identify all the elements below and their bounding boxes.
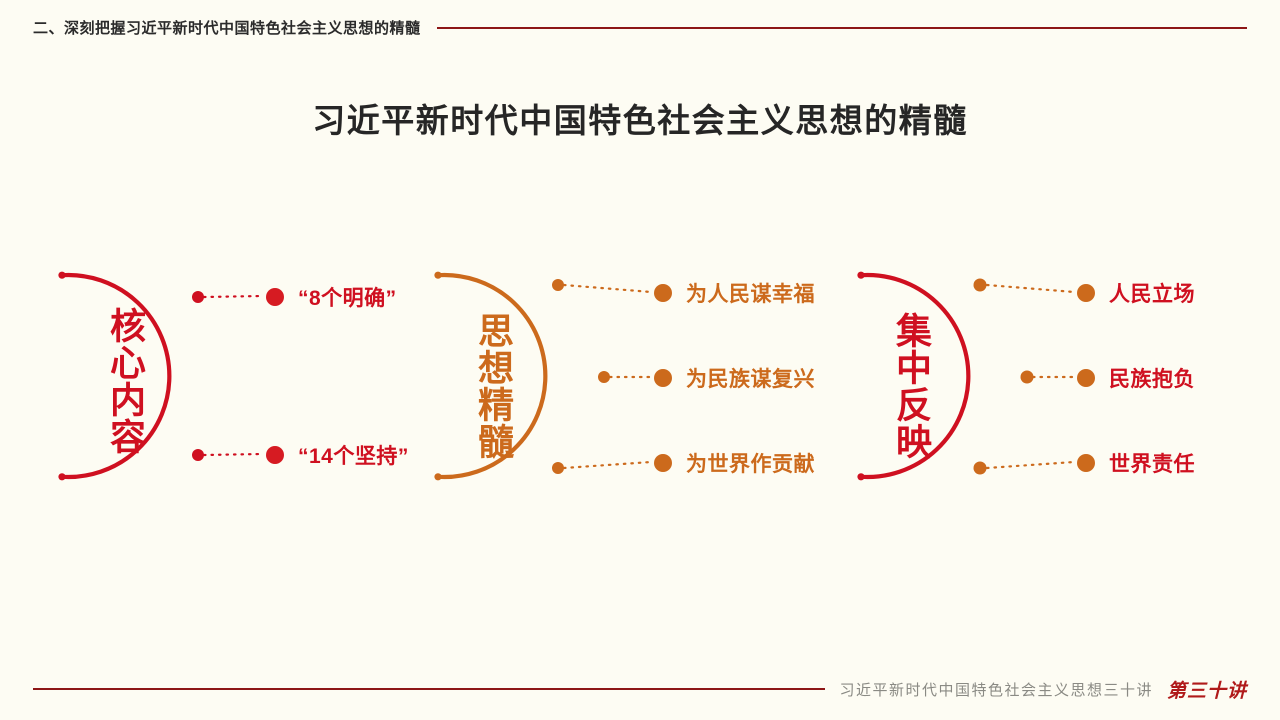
slide-canvas: 二、深刻把握习近平新时代中国特色社会主义思想的精髓 习近平新时代中国特色社会主义… bbox=[0, 0, 1280, 720]
leaf-label: 为世界作贡献 bbox=[686, 448, 815, 478]
leaf-label: “14个坚持” bbox=[298, 440, 409, 470]
connector-dotted-line bbox=[204, 296, 262, 297]
connector-dotted-line bbox=[204, 454, 262, 455]
leaf-item[interactable]: “8个明确” bbox=[266, 282, 397, 312]
branch-node-icon bbox=[598, 371, 610, 383]
branch-node-icon bbox=[192, 449, 204, 461]
group-label-ideological-essence: 思想精髓 bbox=[466, 286, 512, 486]
bullet-dot-icon bbox=[654, 454, 672, 472]
group-label-concentrated-reflection: 集中反映 bbox=[884, 286, 930, 486]
slide-footer: 习近平新时代中国特色社会主义思想三十讲 第三十讲 bbox=[33, 674, 1247, 704]
arc-endpoint-bottom-icon bbox=[434, 473, 441, 480]
footer-series-title: 习近平新时代中国特色社会主义思想三十讲 bbox=[839, 679, 1153, 700]
section-heading: 二、深刻把握习近平新时代中国特色社会主义思想的精髓 bbox=[33, 17, 421, 38]
footer-divider-line bbox=[33, 688, 825, 690]
arc-path bbox=[438, 275, 545, 477]
branch-node-icon bbox=[192, 291, 204, 303]
header-divider-line bbox=[437, 27, 1247, 29]
leaf-item[interactable]: 民族抱负 bbox=[1077, 363, 1195, 393]
arc-endpoint-top-icon bbox=[58, 272, 65, 279]
arc-endpoint-bottom-icon bbox=[857, 473, 864, 480]
slide-header: 二、深刻把握习近平新时代中国特色社会主义思想的精髓 bbox=[33, 14, 1247, 40]
leaf-item[interactable]: 为人民谋幸福 bbox=[654, 278, 815, 308]
arc-endpoint-top-icon bbox=[434, 272, 441, 279]
connector-dotted-line bbox=[564, 462, 651, 468]
bullet-dot-icon bbox=[1077, 454, 1095, 472]
branch-node-icon bbox=[552, 279, 564, 291]
leaf-label: 世界责任 bbox=[1109, 448, 1195, 478]
footer-lecture-number: 第三十讲 bbox=[1167, 676, 1247, 703]
branch-node-icon bbox=[974, 279, 987, 292]
leaf-label: “8个明确” bbox=[298, 282, 397, 312]
bullet-dot-icon bbox=[1077, 369, 1095, 387]
connector-dotted-line bbox=[987, 462, 1074, 468]
group-label-core-content: 核心内容 bbox=[98, 286, 144, 476]
leaf-label: 民族抱负 bbox=[1109, 363, 1195, 393]
leaf-label: 为民族谋复兴 bbox=[686, 363, 815, 393]
leaf-label: 为人民谋幸福 bbox=[686, 278, 815, 308]
leaf-item[interactable]: 为民族谋复兴 bbox=[654, 363, 815, 393]
bullet-dot-icon bbox=[266, 288, 284, 306]
bullet-dot-icon bbox=[1077, 284, 1095, 302]
bullet-dot-icon bbox=[266, 446, 284, 464]
leaf-label: 人民立场 bbox=[1109, 278, 1195, 308]
leaf-item[interactable]: “14个坚持” bbox=[266, 440, 409, 470]
arc-endpoint-top-icon bbox=[857, 272, 864, 279]
connector-dotted-line bbox=[564, 285, 651, 292]
branch-node-icon bbox=[1021, 371, 1034, 384]
leaf-item[interactable]: 世界责任 bbox=[1077, 448, 1195, 478]
bullet-dot-icon bbox=[654, 369, 672, 387]
arc-path bbox=[861, 275, 968, 477]
leaf-item[interactable]: 人民立场 bbox=[1077, 278, 1195, 308]
branch-node-icon bbox=[974, 462, 987, 475]
leaf-item[interactable]: 为世界作贡献 bbox=[654, 448, 815, 478]
page-title: 习近平新时代中国特色社会主义思想的精髓 bbox=[0, 94, 1280, 142]
branch-node-icon bbox=[552, 462, 564, 474]
bullet-dot-icon bbox=[654, 284, 672, 302]
connector-dotted-line bbox=[987, 285, 1074, 292]
arc-endpoint-bottom-icon bbox=[58, 473, 65, 480]
arc-path bbox=[62, 275, 169, 477]
